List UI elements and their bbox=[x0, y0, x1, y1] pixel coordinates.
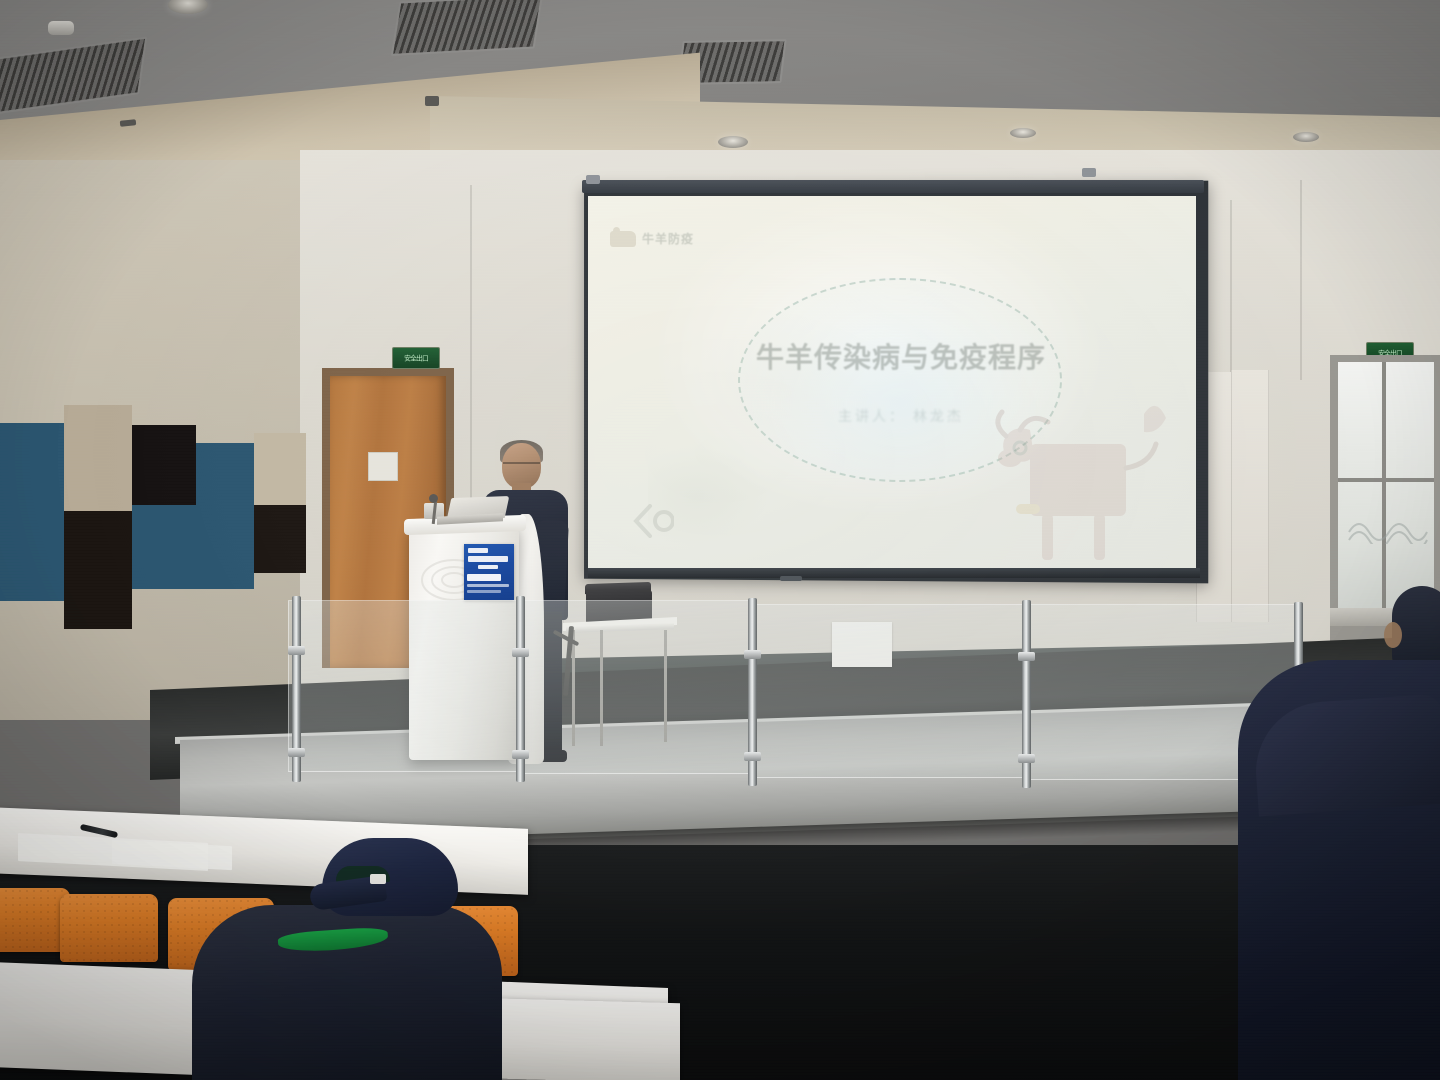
podium-poster bbox=[464, 544, 514, 600]
screen-bracket bbox=[1082, 168, 1096, 177]
glass-railing-panel bbox=[288, 600, 518, 772]
ceiling-fixture bbox=[425, 96, 439, 106]
glass-railing-panel bbox=[520, 600, 750, 774]
acoustic-panel-wall bbox=[0, 405, 302, 635]
slide-logo: 牛羊防疫 bbox=[610, 230, 694, 247]
railing-clip bbox=[744, 752, 761, 761]
smoke-detector-icon bbox=[48, 21, 74, 35]
window-mullion bbox=[1382, 362, 1386, 612]
slide-title: 牛羊传染病与免疫程序 bbox=[736, 336, 1066, 376]
glass-railing-panel bbox=[752, 604, 1024, 778]
wall-seam bbox=[1300, 180, 1302, 380]
window-glass bbox=[1338, 362, 1434, 612]
wall-cabinet-door[interactable] bbox=[1231, 370, 1269, 622]
acoustic-panel bbox=[196, 443, 254, 505]
window-mullion bbox=[1338, 478, 1434, 482]
slide-nav-arrow-icon bbox=[632, 504, 674, 538]
exit-sign-label: 安全出口 bbox=[404, 353, 428, 362]
railing-clip bbox=[288, 748, 305, 757]
railing-clip bbox=[744, 650, 761, 659]
microphone-icon bbox=[429, 494, 438, 503]
lecture-hall-photo: 安全出口 安全出口 牛羊防疫 牛羊传染病与免疫程序 主讲人： 林龙杰 bbox=[0, 0, 1440, 1080]
acoustic-panel bbox=[0, 423, 64, 601]
railing-clip bbox=[288, 646, 305, 655]
railing-clip bbox=[512, 750, 529, 759]
right-attendee-ear bbox=[1384, 622, 1402, 648]
slide-logo-text: 牛羊防疫 bbox=[642, 230, 694, 247]
exit-sign-icon: 安全出口 bbox=[392, 347, 440, 369]
acoustic-panel bbox=[254, 433, 306, 505]
screen-bracket bbox=[586, 175, 600, 184]
railing-clip bbox=[1018, 652, 1035, 661]
poster-text-line bbox=[467, 590, 501, 593]
acoustic-panel bbox=[132, 505, 254, 589]
audience-chair[interactable] bbox=[60, 894, 158, 962]
projected-slide: 牛羊防疫 牛羊传染病与免疫程序 主讲人： 林龙杰 bbox=[588, 196, 1196, 571]
poster-text-line bbox=[467, 584, 509, 587]
chair-texture bbox=[60, 894, 158, 962]
acoustic-panel bbox=[254, 505, 306, 573]
ceiling-downlight bbox=[1293, 132, 1319, 142]
ceiling-downlight bbox=[718, 136, 748, 148]
ceiling-downlight bbox=[1010, 128, 1036, 138]
cow-mark-icon bbox=[610, 231, 636, 247]
speaker-glasses-icon bbox=[503, 462, 540, 472]
screen-roller-housing bbox=[582, 180, 1204, 193]
poster-brand-mark bbox=[467, 574, 501, 581]
acoustic-panel bbox=[132, 425, 196, 505]
screen-pull-handle[interactable] bbox=[780, 576, 802, 581]
window-decor-pattern bbox=[1345, 498, 1431, 544]
cow-illustration-icon bbox=[986, 396, 1176, 564]
acoustic-panel bbox=[64, 511, 132, 629]
railing-clip bbox=[1018, 754, 1035, 763]
attendee-cap-tag bbox=[370, 874, 386, 884]
hvac-vent bbox=[391, 0, 543, 56]
poster-text-line bbox=[478, 565, 498, 569]
door-notice-sign bbox=[368, 452, 398, 481]
acoustic-panel bbox=[64, 405, 132, 511]
screen-bottom-bar bbox=[588, 568, 1200, 578]
poster-text-line bbox=[468, 556, 508, 562]
railing-clip bbox=[512, 648, 529, 657]
poster-text-line bbox=[468, 548, 488, 553]
